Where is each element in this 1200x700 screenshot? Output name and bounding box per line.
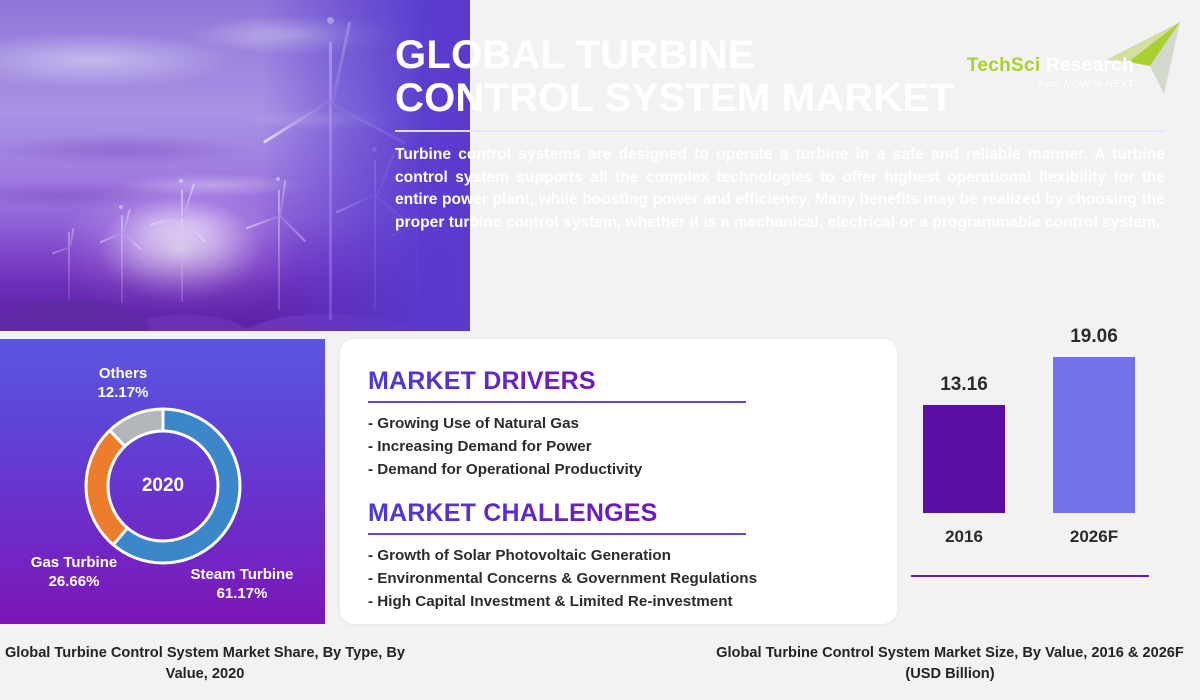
bar-chart-axis-line	[911, 575, 1149, 577]
market-drivers-heading: MARKET DRIVERS	[368, 367, 596, 396]
donut-label-gas-value: 26.66%	[4, 573, 144, 592]
donut-label-others-name: Others	[62, 365, 184, 384]
donut-center-label: 2020	[78, 401, 248, 571]
drivers-challenges-card: MARKET DRIVERS - Growing Use of Natural …	[340, 339, 897, 624]
bar-value-2026f: 19.06	[1053, 326, 1135, 357]
donut-chart-caption: Global Turbine Control System Market Sha…	[0, 643, 410, 685]
list-item: - Growth of Solar Photovoltaic Generatio…	[368, 544, 878, 567]
bar-chart-caption: Global Turbine Control System Market Siz…	[700, 643, 1200, 685]
footer-captions: Global Turbine Control System Market Sha…	[0, 631, 1200, 700]
list-item: - Environmental Concerns & Government Re…	[368, 567, 878, 590]
bar-category-2026f: 2026F	[1039, 513, 1149, 547]
bar-column-2026f: 19.06 2026F	[1053, 357, 1135, 513]
content-band: Others 12.17% Gas Turbine 26.66% Steam T…	[0, 331, 1200, 631]
logo-name: TechSci Research	[967, 56, 1134, 75]
logo-name-secondary: Research	[1046, 55, 1134, 76]
header-hero: TechSci Research from NOW to NEXT GLOBAL…	[0, 0, 1200, 331]
market-challenges-heading: MARKET CHALLENGES	[368, 499, 658, 528]
market-drivers-underline	[368, 401, 746, 403]
bar-rect-2026f	[1053, 357, 1135, 513]
bar-plot-area: 13.16 2016 19.06 2026F	[905, 339, 1190, 577]
list-item: - High Capital Investment & Limited Re-i…	[368, 590, 878, 613]
market-drivers-list: - Growing Use of Natural Gas - Increasin…	[368, 412, 878, 482]
list-item: - Demand for Operational Productivity	[368, 458, 878, 481]
donut-label-others: Others 12.17%	[62, 365, 184, 403]
bar-value-2016: 13.16	[923, 374, 1005, 405]
infographic-page: TechSci Research from NOW to NEXT GLOBAL…	[0, 0, 1200, 700]
techsci-research-logo: TechSci Research from NOW to NEXT	[936, 22, 1186, 110]
list-item: - Growing Use of Natural Gas	[368, 412, 878, 435]
list-item: - Increasing Demand for Power	[368, 435, 878, 458]
wind-turbine-icon	[108, 208, 136, 303]
donut-label-steam-value: 61.17%	[162, 585, 322, 604]
title-divider	[395, 130, 1165, 132]
market-size-bar-chart: 13.16 2016 19.06 2026F	[905, 339, 1190, 624]
market-share-donut-panel: Others 12.17% Gas Turbine 26.66% Steam T…	[0, 339, 325, 624]
bar-category-2016: 2016	[909, 513, 1019, 547]
donut-label-steam-turbine: Steam Turbine 61.17%	[162, 566, 322, 604]
logo-text-block: TechSci Research from NOW to NEXT	[967, 56, 1134, 90]
bar-column-2016: 13.16 2016	[923, 405, 1005, 513]
wind-turbine-icon	[165, 182, 199, 302]
donut-chart: 2020	[78, 401, 248, 571]
donut-label-others-value: 12.17%	[62, 384, 184, 403]
market-challenges-section: MARKET CHALLENGES - Growth of Solar Phot…	[368, 499, 878, 613]
market-challenges-underline	[368, 533, 746, 535]
market-drivers-section: MARKET DRIVERS - Growing Use of Natural …	[368, 367, 878, 481]
bar-rect-2016	[923, 405, 1005, 513]
header-description: Turbine control systems are designed to …	[395, 144, 1165, 236]
logo-tagline: from NOW to NEXT	[967, 78, 1134, 90]
wind-turbine-icon	[58, 228, 80, 300]
market-challenges-list: - Growth of Solar Photovoltaic Generatio…	[368, 544, 878, 614]
logo-name-primary: TechSci	[967, 55, 1041, 76]
